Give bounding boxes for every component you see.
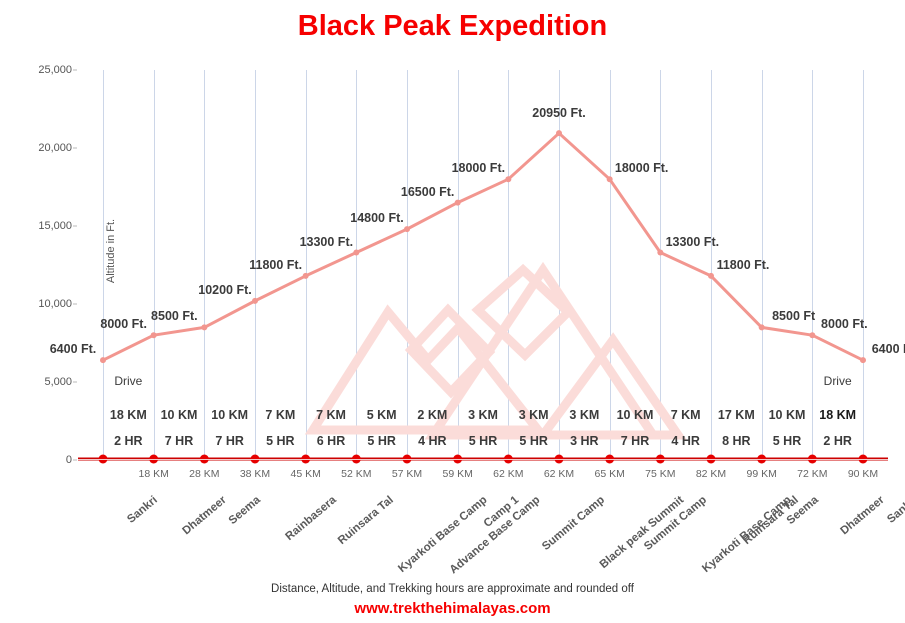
- y-axis-tick-mark: [73, 382, 77, 383]
- segment-hours: 4 HR: [418, 434, 446, 448]
- y-axis-tick-mark: [73, 460, 77, 461]
- cumulative-distance: 59 KM: [442, 468, 472, 480]
- x-axis-label[interactable]: Sankri: [885, 494, 905, 526]
- website-link[interactable]: www.trekthehimalayas.com: [0, 600, 905, 617]
- altitude-label: 18000 Ft.: [615, 161, 669, 175]
- data-point-marker[interactable]: [809, 332, 815, 338]
- segment-hours: 5 HR: [367, 434, 395, 448]
- data-point-marker[interactable]: [353, 250, 359, 256]
- segment-hours: 6 HR: [317, 434, 345, 448]
- segment-distance: 10 KM: [211, 408, 248, 422]
- altitude-label: 16500 Ft.: [401, 185, 455, 199]
- cumulative-distance: 90 KM: [848, 468, 878, 480]
- segment-hours: 8 HR: [722, 434, 750, 448]
- altitude-label: 14800 Ft.: [350, 211, 404, 225]
- data-point-marker[interactable]: [759, 324, 765, 330]
- altitude-label: 8500 Ft: [772, 309, 815, 323]
- segment-hours: 4 HR: [671, 434, 699, 448]
- altitude-label: 20950 Ft.: [532, 106, 586, 120]
- segment-distance: 17 KM: [718, 408, 755, 422]
- x-axis-label[interactable]: Advance Base Camp: [448, 494, 543, 576]
- x-axis-label[interactable]: Rainbasera: [284, 494, 339, 543]
- segment-hours: 7 HR: [215, 434, 243, 448]
- cumulative-distance: 65 KM: [594, 468, 624, 480]
- cumulative-distance: 57 KM: [392, 468, 422, 480]
- cumulative-distance: 62 KM: [544, 468, 574, 480]
- data-point-marker[interactable]: [556, 130, 562, 136]
- data-point-marker[interactable]: [404, 226, 410, 232]
- x-axis-label[interactable]: Dhatmeer: [839, 494, 887, 537]
- x-axis-label[interactable]: Summit Camp: [540, 494, 607, 553]
- segment-distance: 3 KM: [569, 408, 599, 422]
- segment-distance: 3 KM: [468, 408, 498, 422]
- segment-hours: 5 HR: [266, 434, 294, 448]
- data-point-marker[interactable]: [657, 250, 663, 256]
- segment-distance: 18 KM: [110, 408, 147, 422]
- y-axis-tick-label: 20,000: [38, 142, 72, 154]
- altitude-label: 13300 Ft.: [666, 235, 720, 249]
- segment-hours: 7 HR: [165, 434, 193, 448]
- cumulative-distance: 75 KM: [645, 468, 675, 480]
- footnote: Distance, Altitude, and Trekking hours a…: [0, 583, 905, 595]
- segment-hours: 2 HR: [114, 434, 142, 448]
- data-point-marker[interactable]: [505, 176, 511, 182]
- y-axis-tick-label: 0: [66, 454, 72, 466]
- y-axis-tick-mark: [73, 148, 77, 149]
- cumulative-distance: 82 KM: [696, 468, 726, 480]
- data-point-marker[interactable]: [201, 324, 207, 330]
- altitude-label: 6400 Ft.: [50, 342, 97, 356]
- segment-hours: 7 HR: [621, 434, 649, 448]
- data-point-marker[interactable]: [455, 200, 461, 206]
- segment-distance: 7 KM: [316, 408, 346, 422]
- segment-hours: 2 HR: [823, 434, 851, 448]
- y-axis-tick-label: 15,000: [38, 220, 72, 232]
- x-axis-label[interactable]: Dhatmeer: [180, 494, 228, 537]
- segment-distance: 2 KM: [417, 408, 447, 422]
- y-axis-tick-mark: [73, 70, 77, 71]
- y-axis-tick-label: 25,000: [38, 64, 72, 76]
- data-point-marker[interactable]: [860, 357, 866, 363]
- data-point-marker[interactable]: [303, 273, 309, 279]
- y-axis-tick-mark: [73, 304, 77, 305]
- segment-hours: 5 HR: [519, 434, 547, 448]
- altitude-label: 11800 Ft.: [249, 258, 302, 272]
- travel-mode-label: Drive: [114, 374, 142, 388]
- segment-distance: 10 KM: [161, 408, 198, 422]
- data-point-marker[interactable]: [708, 273, 714, 279]
- data-point-marker[interactable]: [252, 298, 258, 304]
- altitude-label: 8500 Ft.: [151, 309, 198, 323]
- y-axis-tick-label: 10,000: [38, 298, 72, 310]
- y-axis-tick-label: 5,000: [44, 376, 72, 388]
- chart-page: Black Peak Expedition Altitude in Ft. 05…: [0, 0, 905, 623]
- cumulative-distance: 62 KM: [493, 468, 523, 480]
- altitude-label: 8000 Ft.: [100, 317, 147, 331]
- x-axis-label[interactable]: Seema: [227, 494, 263, 527]
- altitude-label: 11800 Ft.: [717, 258, 770, 272]
- altitude-label: 8000 Ft.: [821, 317, 868, 331]
- x-axis-label[interactable]: Sankri: [125, 494, 160, 526]
- segment-distance: 18 KM: [819, 408, 856, 422]
- page-title: Black Peak Expedition: [0, 10, 905, 43]
- segment-hours: 5 HR: [773, 434, 801, 448]
- altitude-label: 6400 Ft.: [872, 342, 905, 356]
- data-point-marker[interactable]: [607, 176, 613, 182]
- cumulative-distance: 99 KM: [746, 468, 776, 480]
- y-axis-tick-mark: [73, 226, 77, 227]
- segment-distance: 10 KM: [617, 408, 654, 422]
- segment-distance: 5 KM: [367, 408, 397, 422]
- axis-baseline: [78, 459, 888, 460]
- altitude-label: 18000 Ft.: [452, 161, 506, 175]
- altitude-label: 10200 Ft.: [198, 283, 252, 297]
- cumulative-distance: 18 KM: [138, 468, 168, 480]
- segment-hours: 5 HR: [469, 434, 497, 448]
- segment-distance: 7 KM: [671, 408, 701, 422]
- data-point-marker[interactable]: [151, 332, 157, 338]
- cumulative-distance: 52 KM: [341, 468, 371, 480]
- segment-distance: 7 KM: [265, 408, 295, 422]
- altitude-label: 13300 Ft.: [300, 235, 354, 249]
- cumulative-distance: 45 KM: [290, 468, 320, 480]
- data-point-marker[interactable]: [100, 357, 106, 363]
- x-axis-label[interactable]: Ruinsara Tal: [336, 494, 396, 547]
- segment-distance: 3 KM: [519, 408, 549, 422]
- segment-hours: 3 HR: [570, 434, 598, 448]
- x-axis-label[interactable]: Kyarkoti Base Camp: [396, 494, 489, 575]
- cumulative-distance: 72 KM: [797, 468, 827, 480]
- cumulative-distance: 28 KM: [189, 468, 219, 480]
- segment-distance: 10 KM: [769, 408, 806, 422]
- travel-mode-label: Drive: [824, 374, 852, 388]
- cumulative-distance: 38 KM: [240, 468, 270, 480]
